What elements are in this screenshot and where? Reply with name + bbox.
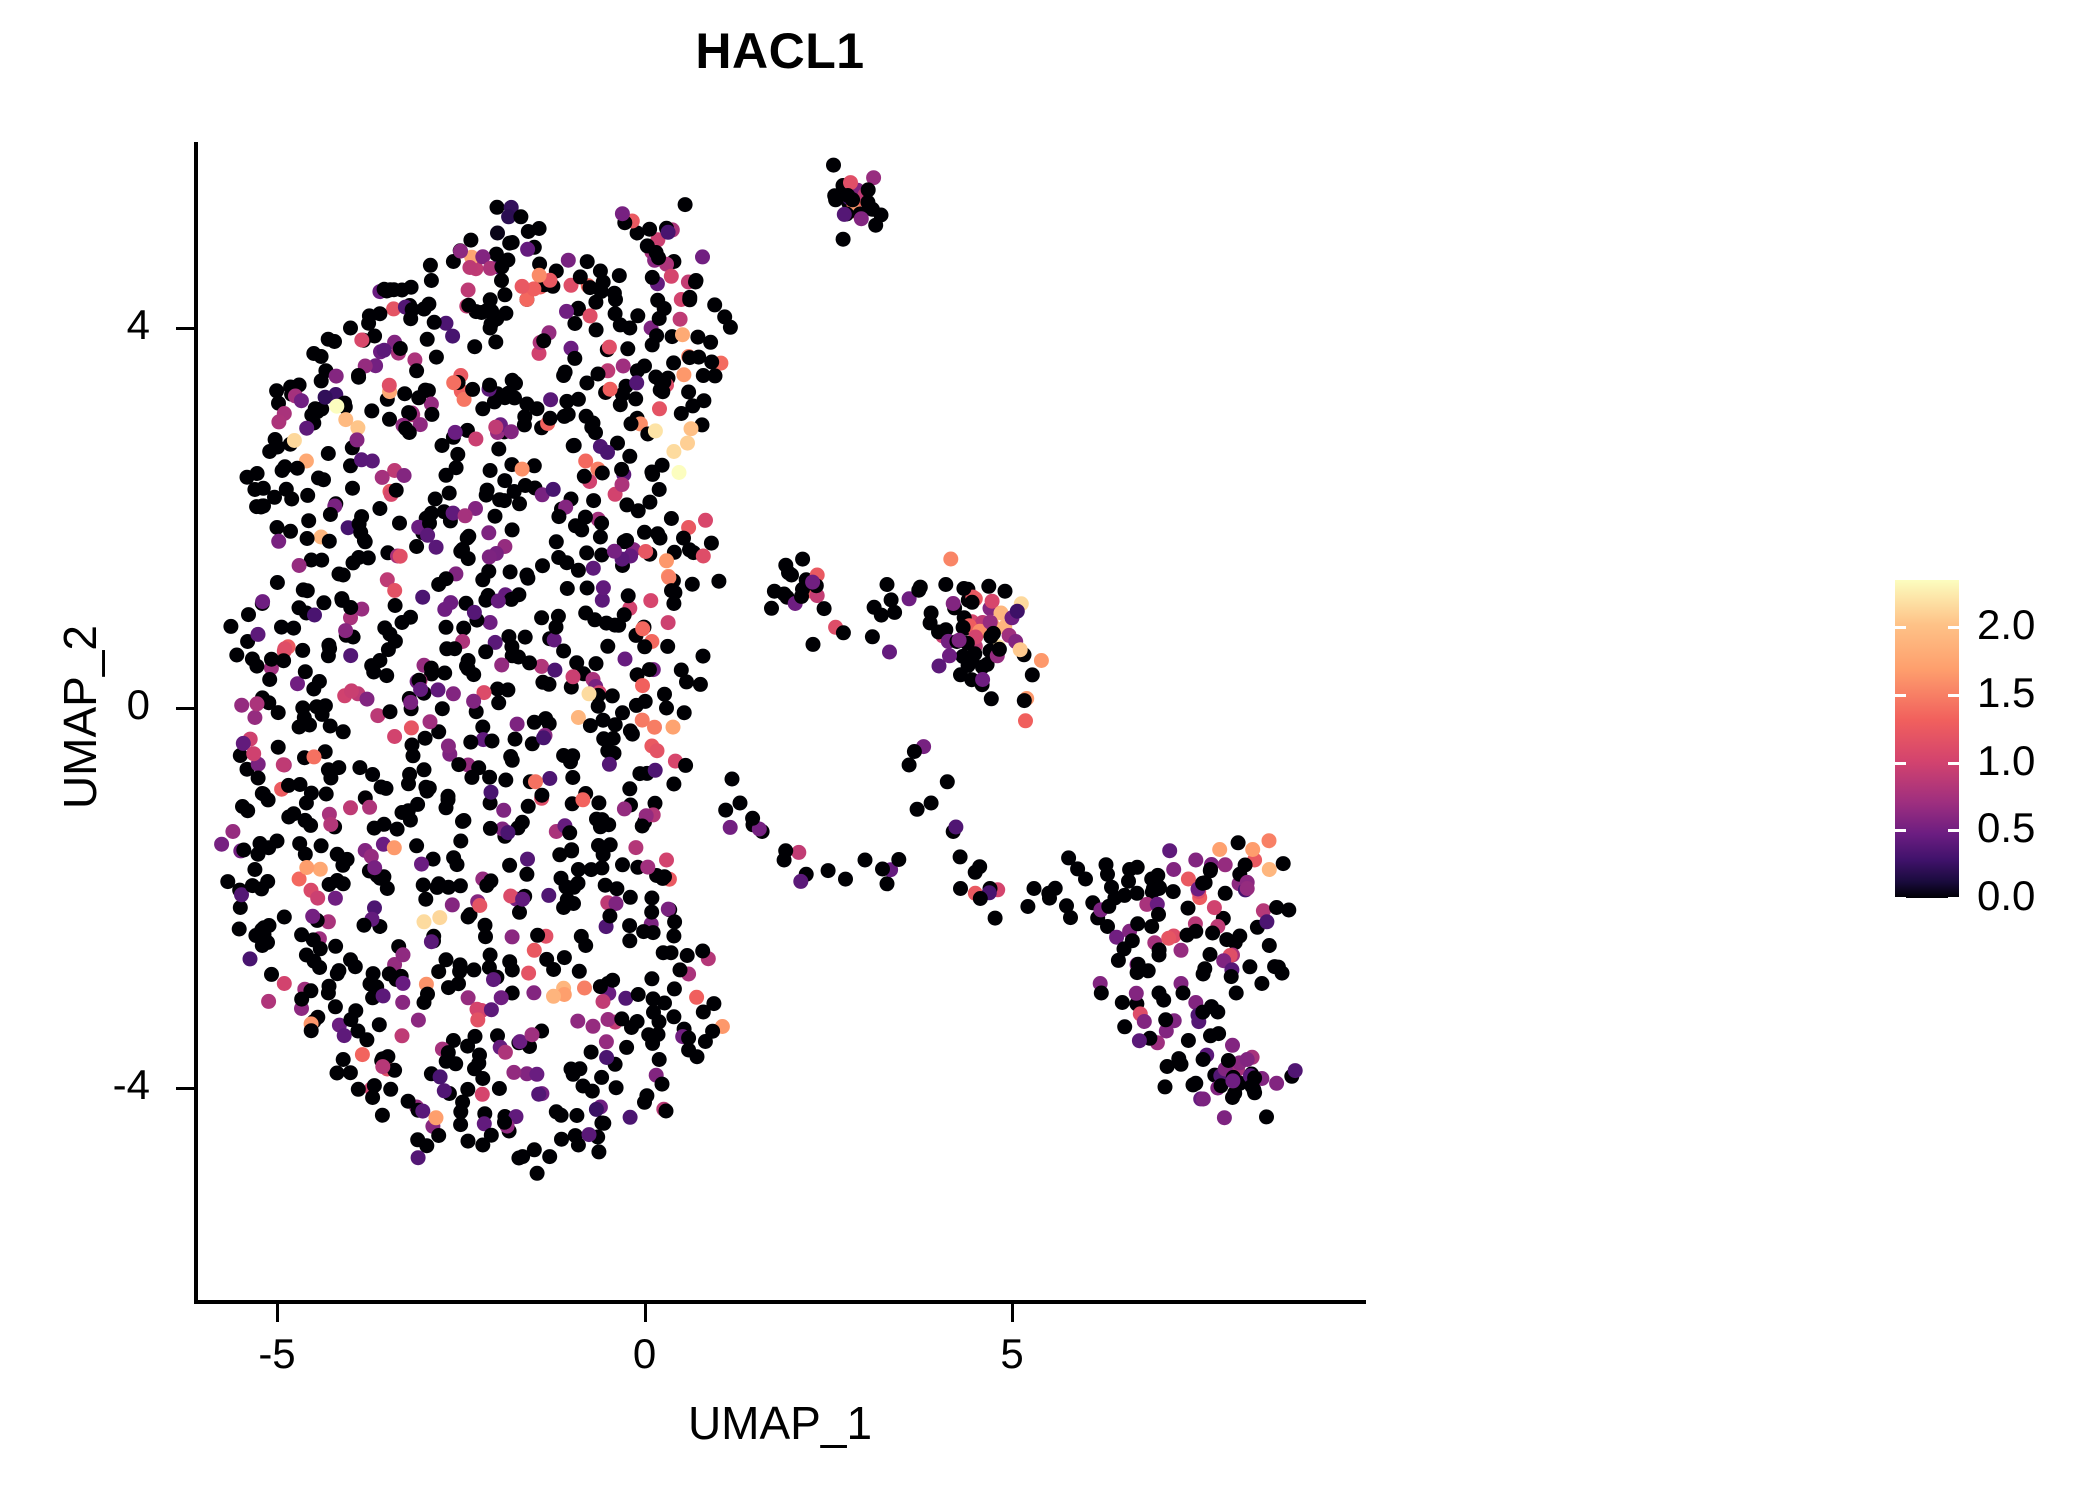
y-axis-tick: [176, 707, 194, 710]
scatter-plot-area: [194, 142, 1366, 1304]
y-axis-tick: [176, 327, 194, 330]
colorbar-tick-mark: [1895, 626, 1906, 629]
colorbar-tick-label: 0.0: [1977, 872, 2100, 920]
chart-root: HACL1 -404-505 UMAP_1 UMAP_2 2.01.51.00.…: [0, 0, 2100, 1500]
x-axis-tick-label: -5: [207, 1330, 347, 1378]
colorbar-tick-mark: [1948, 897, 1959, 900]
colorbar-tick-mark: [1948, 762, 1959, 765]
colorbar-tick-mark: [1948, 626, 1959, 629]
colorbar-tick-mark: [1895, 829, 1906, 832]
x-axis-tick: [276, 1304, 279, 1322]
colorbar-tick-mark: [1895, 694, 1906, 697]
x-axis-tick: [1011, 1304, 1014, 1322]
y-axis-tick: [176, 1087, 194, 1090]
colorbar-tick-mark: [1948, 694, 1959, 697]
colorbar-tick-label: 1.5: [1977, 669, 2100, 717]
colorbar-tick-label: 0.5: [1977, 804, 2100, 852]
y-axis-title: UMAP_2: [53, 117, 107, 1317]
x-axis-tick-label: 0: [575, 1330, 715, 1378]
x-axis-title: UMAP_1: [194, 1396, 1366, 1450]
x-axis-tick-label: 5: [942, 1330, 1082, 1378]
colorbar-tick-mark: [1895, 897, 1906, 900]
colorbar-tick-label: 1.0: [1977, 737, 2100, 785]
colorbar-tick-label: 2.0: [1977, 601, 2100, 649]
x-axis-tick: [644, 1304, 647, 1322]
scatter-points: [194, 142, 1366, 1304]
page-title: HACL1: [0, 22, 1560, 80]
colorbar-tick-mark: [1948, 829, 1959, 832]
colorbar-tick-mark: [1895, 762, 1906, 765]
